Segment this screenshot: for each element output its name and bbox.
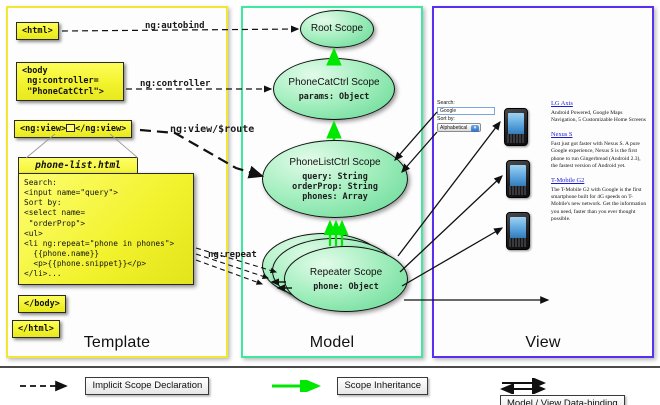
- phone-snippet: Android Powered, Google Maps Navigation,…: [551, 110, 647, 125]
- html-close-tag: </html>: [12, 320, 60, 338]
- phone-list-html-note: phone-list.html Search: <input name="que…: [18, 157, 194, 285]
- sort-select-value: Alphabetical: [440, 125, 467, 131]
- arrow-label-ng-controller: ng:controller: [140, 79, 210, 89]
- scope-repeater: Repeater Scope phone: Object: [284, 246, 408, 312]
- ngview-placeholder-icon: [66, 124, 75, 132]
- phone-list: LG Axis Android Powered, Google Maps Nav…: [551, 100, 647, 230]
- scope-phonecatctrl: PhoneCatCtrl Scope params: Object: [273, 58, 395, 120]
- legend: Implicit Scope Declaration Scope Inherit…: [0, 366, 660, 405]
- phone-keyboard: [507, 134, 525, 143]
- scope-repeater-stack: Repeater Scope phone: Object: [262, 232, 412, 318]
- arrow-label-ng-view-route: ng:view/$route: [170, 124, 254, 135]
- sort-label: Sort by:: [437, 116, 499, 123]
- list-item: LG Axis Android Powered, Google Maps Nav…: [551, 100, 647, 124]
- green-arrow-icon: [270, 380, 328, 392]
- scope-root: Root Scope: [300, 10, 374, 48]
- phone-keyboard: [509, 186, 527, 195]
- scope-phonecatctrl-props: params: Object: [299, 91, 370, 101]
- list-item: Nexus S Fast just got faster with Nexus …: [551, 131, 647, 170]
- legend-label-implicit-scope: Implicit Scope Declaration: [85, 377, 209, 395]
- legend-label-scope-inheritance: Scope Inheritance: [337, 377, 428, 395]
- sort-select[interactable]: Alphabetical ▾: [437, 123, 481, 132]
- diagram-canvas: Template Model View <html> <body ng:cont…: [0, 0, 660, 405]
- phone-list-html-code: Search: <input name="query"> Sort by: <s…: [18, 173, 194, 285]
- scope-root-title: Root Scope: [311, 23, 363, 34]
- html-open-tag: <html>: [16, 22, 59, 40]
- scope-repeater-title: Repeater Scope: [310, 267, 382, 278]
- panel-model-label: Model: [243, 334, 421, 352]
- ngview-open-label: <ng:view>: [20, 124, 66, 134]
- list-item: T-Mobile G2 The T-Mobile G2 with Google …: [551, 177, 647, 223]
- scope-phonelistctrl: PhoneListCtrl Scope query: String orderP…: [262, 140, 408, 218]
- phone-snippet: Fast just got faster with Nexus S. A pur…: [551, 141, 647, 170]
- search-input[interactable]: Google: [437, 107, 495, 115]
- ngview-tag: <ng:view></ng:view>: [14, 120, 132, 138]
- phone-thumbnail-1: [504, 108, 528, 146]
- phone-keyboard: [509, 238, 527, 247]
- phone-screen: [508, 113, 524, 135]
- scope-phonelistctrl-props: query: String orderProp: String phones: …: [292, 171, 378, 201]
- phone-name-link[interactable]: T-Mobile G2: [551, 177, 647, 185]
- body-close-tag: </body>: [18, 295, 66, 313]
- double-arrow-icon: [500, 378, 552, 394]
- chevron-down-icon: ▾: [471, 125, 479, 132]
- arrow-label-ng-autobind: ng:autobind: [145, 21, 205, 31]
- scope-repeater-props: phone: Object: [313, 281, 379, 291]
- phone-screen: [510, 165, 526, 187]
- scope-phonelistctrl-title: PhoneListCtrl Scope: [289, 157, 380, 168]
- phone-screen: [510, 217, 526, 239]
- search-label: Search:: [437, 100, 499, 107]
- scope-phonecatctrl-title: PhoneCatCtrl Scope: [288, 77, 379, 88]
- phone-thumbnail-3: [506, 212, 530, 250]
- panel-view-label: View: [434, 334, 652, 352]
- ngview-close-label: </ng:view>: [75, 124, 126, 134]
- arrow-label-ng-repeat: ng:repeat: [208, 250, 257, 260]
- dashed-arrow-icon: [18, 380, 76, 392]
- phone-name-link[interactable]: LG Axis: [551, 100, 647, 108]
- phone-thumbnail-2: [506, 160, 530, 198]
- phone-name-link[interactable]: Nexus S: [551, 131, 647, 139]
- body-tag: <body ng:controller= "PhoneCatCtrl">: [16, 62, 124, 101]
- legend-item-data-binding: Model / View Data-binding: [500, 377, 660, 395]
- view-search-form: Search: Google Sort by: Alphabetical ▾: [437, 100, 499, 132]
- legend-label-data-binding: Model / View Data-binding: [500, 395, 625, 405]
- legend-item-implicit-scope: Implicit Scope Declaration: [18, 377, 209, 395]
- legend-item-scope-inheritance: Scope Inheritance: [270, 377, 428, 395]
- phone-snippet: The T-Mobile G2 with Google is the first…: [551, 187, 647, 223]
